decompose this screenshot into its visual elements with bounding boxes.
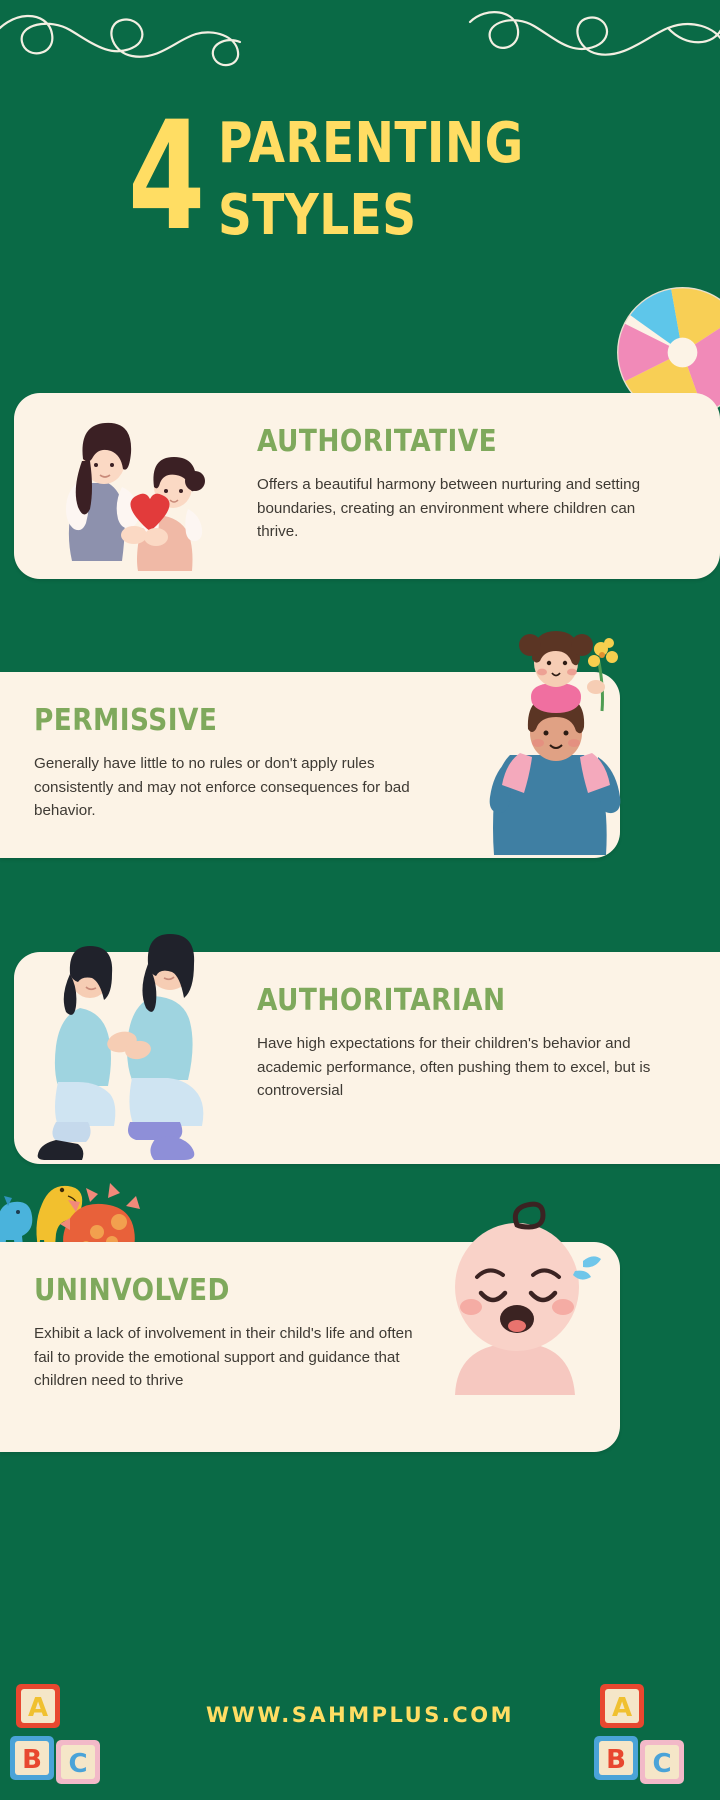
title-number: 4 [128,102,202,252]
svg-text:B: B [606,1745,626,1775]
crying-baby-illustration [425,1195,610,1400]
svg-text:C: C [652,1749,671,1779]
card-heading: AUTHORITARIAN [257,984,609,1018]
alphabet-blocks-icon: A B C [8,1680,128,1800]
svg-text:A: A [612,1693,632,1723]
mother-and-daughter-with-heart-illustration [30,375,235,580]
card-heading: UNINVOLVED [34,1274,368,1308]
title-line-2: STYLES [218,180,524,252]
card-heading: PERMISSIVE [34,704,368,738]
title-line-1: PARENTING [218,108,524,180]
father-carrying-daughter-on-shoulders-illustration [470,605,650,855]
card-body: Have high expectations for their childre… [257,1032,657,1103]
svg-text:A: A [28,1693,48,1723]
card-body: Generally have little to no rules or don… [34,752,414,823]
infographic-page: 4 PARENTING STYLES AUTHORITATIVE Offers … [0,0,720,1800]
card-heading: AUTHORITATIVE [257,425,609,459]
card-body: Exhibit a lack of involvement in their c… [34,1322,414,1393]
svg-text:B: B [22,1745,42,1775]
squiggle-doodle-icon [0,0,720,110]
card-body: Offers a beautiful harmony between nurtu… [257,473,657,544]
svg-text:C: C [68,1749,87,1779]
parent-scolding-child-illustration [22,900,237,1165]
footer: WWW.SAHMPLUS.COM A B C A B C [0,1650,720,1800]
alphabet-blocks-icon: A B C [592,1680,712,1800]
page-title: 4 PARENTING STYLES [0,100,720,280]
